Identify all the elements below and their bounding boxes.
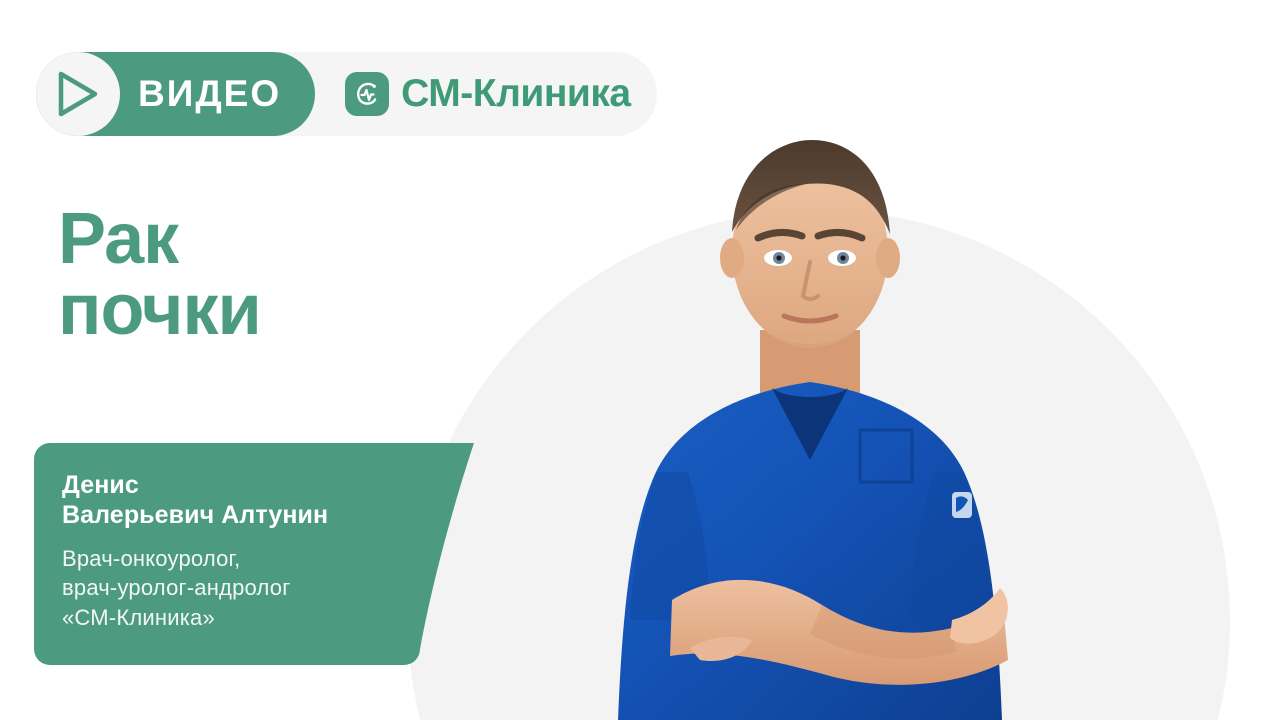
doctor-name: Денис Валерьевич Алтунин	[62, 471, 432, 530]
doctor-info-card: Денис Валерьевич Алтунин Врач-онкоуролог…	[34, 443, 480, 665]
doctor-info-content: Денис Валерьевич Алтунин Врач-онкоуролог…	[62, 471, 432, 632]
video-badge-bar: ВИДЕО СМ-Клиника	[36, 52, 657, 136]
title-line-1: Рак	[58, 199, 178, 279]
play-triangle-icon	[55, 69, 101, 119]
title-line-2: почки	[58, 275, 261, 346]
brand-logo: СМ-Клиника	[345, 72, 630, 116]
doctor-name-line-1: Денис	[62, 471, 139, 499]
video-pill[interactable]: ВИДЕО	[36, 52, 315, 136]
doctor-role-line-1: Врач-онкоуролог,	[62, 544, 432, 573]
video-label: ВИДЕО	[138, 73, 281, 115]
doctor-role: Врач-онкоуролог, врач-уролог-андролог «С…	[62, 544, 432, 632]
doctor-role-line-2: врач-уролог-андролог	[62, 573, 432, 602]
sm-clinic-pulse-icon	[345, 72, 389, 116]
brand-name: СМ-Клиника	[401, 72, 630, 116]
page-title: Рак почки	[58, 204, 261, 345]
doctor-portrait	[560, 100, 1120, 720]
doctor-role-line-3: «СМ-Клиника»	[62, 603, 432, 632]
play-button[interactable]	[36, 52, 120, 136]
video-thumbnail-slide: ВИДЕО СМ-Клиника Рак почки Денис Валерье	[0, 0, 1280, 720]
doctor-name-line-2: Валерьевич Алтунин	[62, 501, 432, 531]
